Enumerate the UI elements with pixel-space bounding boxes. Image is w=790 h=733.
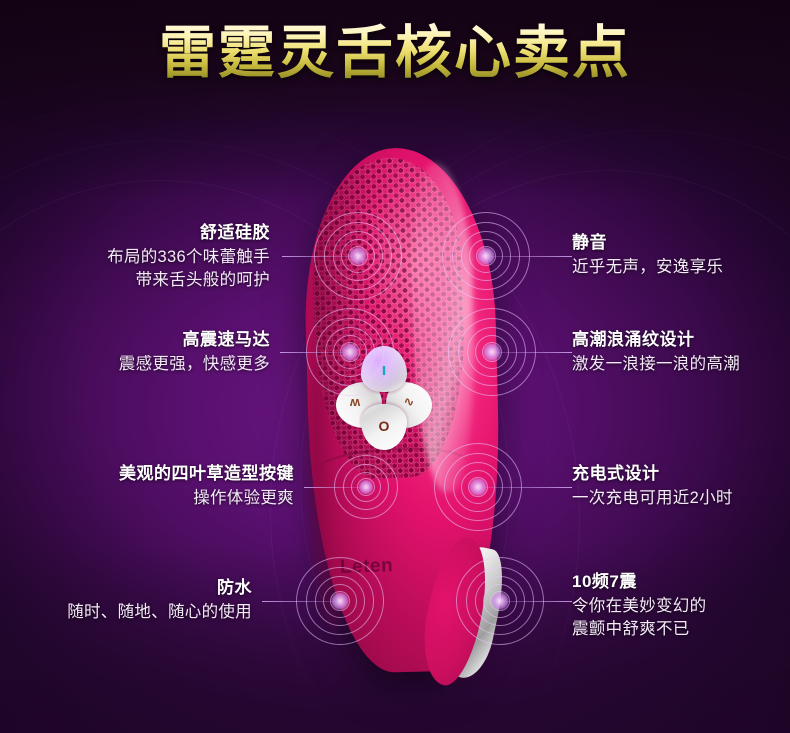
wave-right-icon: ∿ [398,394,420,410]
callout-waterproof: 防水 随时、随地、随心的使用 [14,576,252,624]
callout-wave-line-1: 激发一浪接一浪的高潮 [572,353,788,376]
callout-quiet-line-1: 近乎无声，安逸享乐 [572,256,782,279]
product-selling-points-poster: 雷霆灵舌核心卖点 Leten ı ʍ ∿ [0,0,790,733]
lead-line-wave [492,352,572,353]
clover-button-group[interactable]: ı ʍ ∿ O [336,346,432,452]
lead-line-clover [304,487,366,488]
callout-quiet: 静音 近乎无声，安逸享乐 [572,231,782,279]
callout-modes-line-2: 震颤中舒爽不已 [572,618,784,641]
callout-rechargeable-line-1: 一次充电可用近2小时 [572,487,786,510]
callout-motor-line-1: 震感更强，快感更多 [20,353,270,376]
callout-motor: 高震速马达 震感更强，快感更多 [20,328,270,376]
lead-line-modes [500,601,572,602]
callout-waterproof-heading: 防水 [14,576,252,601]
mode-circle-icon: O [373,418,395,434]
callout-quiet-heading: 静音 [572,231,782,256]
callout-modes-heading: 10频7震 [572,570,784,595]
callout-rechargeable: 充电式设计 一次充电可用近2小时 [572,462,786,510]
wave-left-icon: ʍ [344,394,366,409]
title-area: 雷霆灵舌核心卖点 [0,22,790,86]
callout-modes: 10频7震 令你在美妙变幻的 震颤中舒爽不已 [572,570,784,641]
callout-silicone-heading: 舒适硅胶 [20,221,270,246]
callout-motor-heading: 高震速马达 [20,328,270,353]
callout-clover-heading: 美观的四叶草造型按键 [20,462,294,487]
lead-line-waterproof [262,601,340,602]
callout-silicone: 舒适硅胶 布局的336个味蕾触手 带来舌头般的呵护 [20,221,270,292]
brand-logo: Leten [340,555,394,579]
callout-wave-texture: 高潮浪涌纹设计 激发一浪接一浪的高潮 [572,328,788,376]
power-icon: ı [373,360,395,380]
lead-line-silicone [282,256,358,257]
callout-clover-line-1: 操作体验更爽 [20,487,294,510]
callout-clover-button: 美观的四叶草造型按键 操作体验更爽 [20,462,294,510]
page-title: 雷霆灵舌核心卖点 [159,22,631,86]
lead-line-rechargeable [478,487,572,488]
lead-line-quiet [486,256,572,257]
callout-silicone-line-1: 布局的336个味蕾触手 [20,246,270,269]
callout-rechargeable-heading: 充电式设计 [572,462,786,487]
product-image: Leten ı ʍ ∿ O [300,148,506,676]
callout-silicone-line-2: 带来舌头般的呵护 [20,269,270,292]
callout-waterproof-line-1: 随时、随地、随心的使用 [14,601,252,624]
lead-line-motor [280,352,350,353]
callout-modes-line-1: 令你在美妙变幻的 [572,595,784,618]
callout-wave-heading: 高潮浪涌纹设计 [572,328,788,353]
